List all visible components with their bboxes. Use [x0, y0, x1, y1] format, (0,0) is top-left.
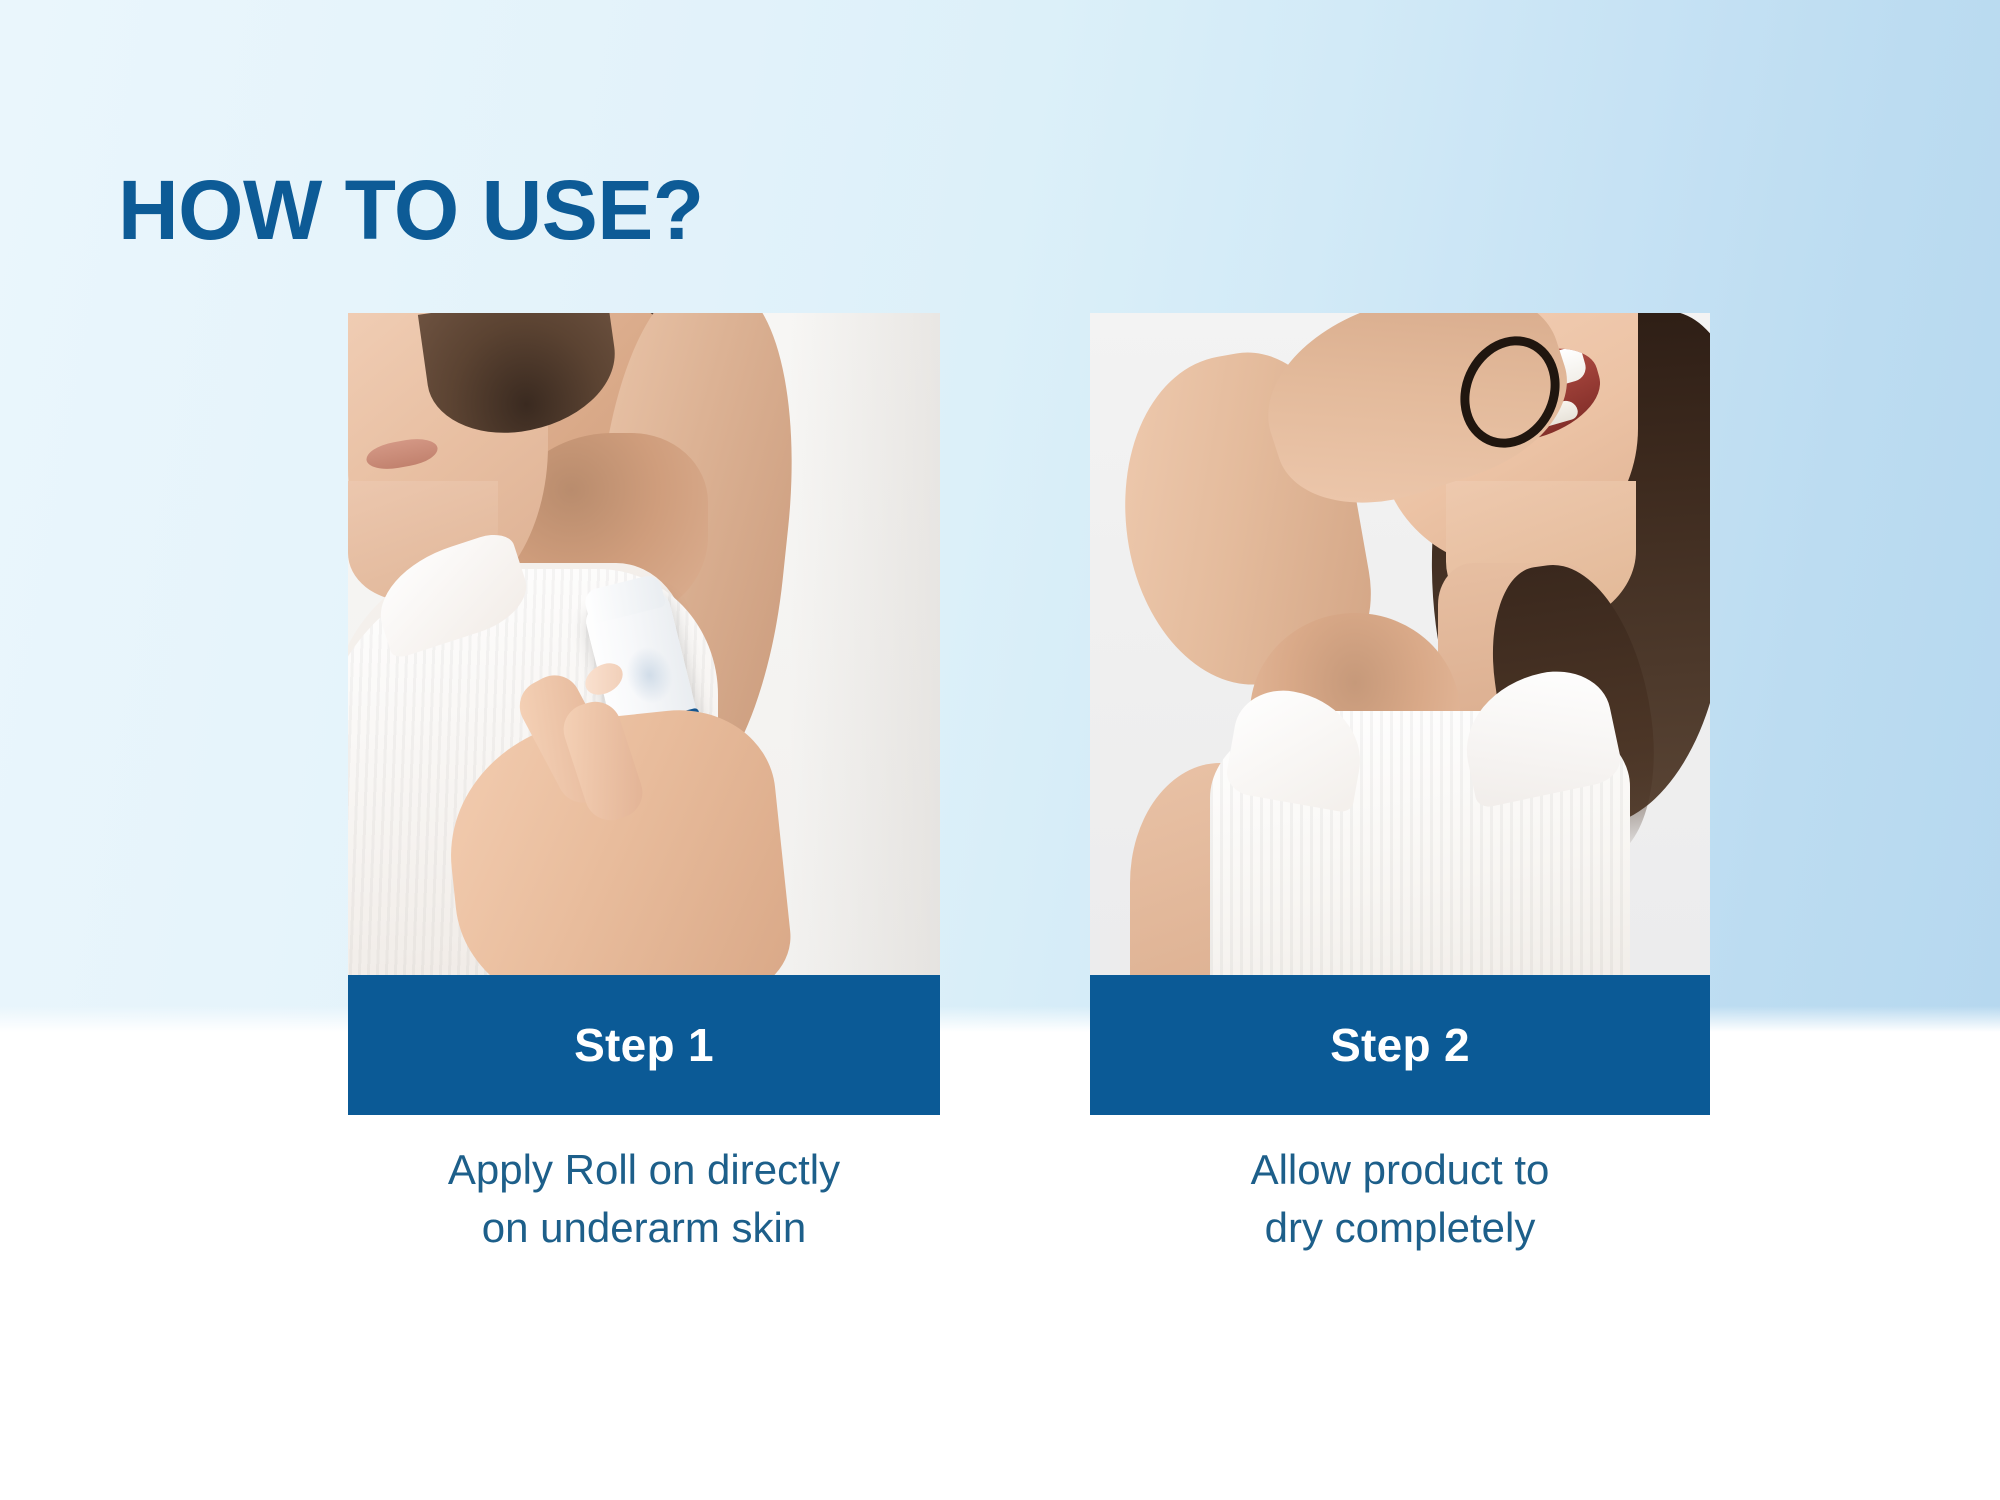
step-card-1: Step 1 Apply Roll on directly on underar…	[348, 313, 940, 975]
step-1-caption: Apply Roll on directly on underarm skin	[348, 1141, 940, 1257]
step-1-banner: Step 1	[348, 975, 940, 1115]
photo-1-edge-shadow	[790, 313, 940, 975]
page-title: HOW TO USE?	[118, 162, 704, 258]
product-brand-mark	[620, 641, 679, 708]
step-1-caption-line-2: on underarm skin	[348, 1199, 940, 1257]
step-1-photo	[348, 313, 940, 975]
step-2-photo	[1090, 313, 1710, 975]
step-card-2: Step 2 Allow product to dry completely	[1090, 313, 1710, 975]
step-2-caption: Allow product to dry completely	[1090, 1141, 1710, 1257]
step-2-banner-label: Step 2	[1330, 1018, 1470, 1072]
step-1-banner-label: Step 1	[574, 1018, 714, 1072]
step-2-banner: Step 2	[1090, 975, 1710, 1115]
step-2-caption-line-1: Allow product to	[1090, 1141, 1710, 1199]
step-2-caption-line-2: dry completely	[1090, 1199, 1710, 1257]
step-1-caption-line-1: Apply Roll on directly	[348, 1141, 940, 1199]
